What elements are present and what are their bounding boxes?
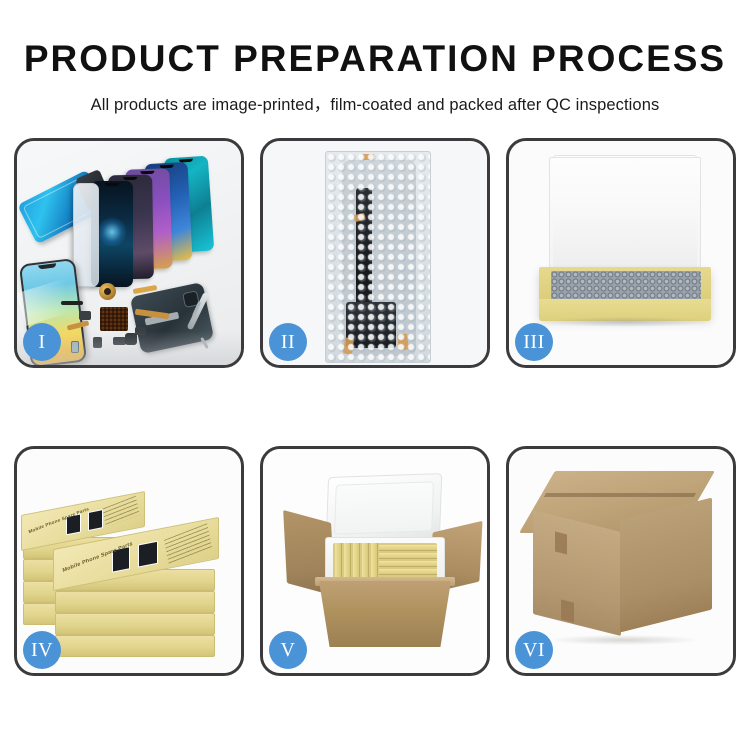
bubble-padding-layer [551,271,701,301]
wallpaper-glow [97,217,127,247]
carton-left-face [533,510,621,636]
step-badge-6: VI [515,631,553,669]
carton-top-seam [544,493,696,497]
notch-icon [140,171,154,174]
foam-lid [326,473,443,543]
bubble-wrap-pouch [325,151,431,363]
tempered-glass-protector [73,183,99,287]
part-screw-mesh-tray [100,307,128,331]
box-spec-lines [164,523,212,564]
retail-box-stacked [55,635,215,657]
step-badge-2: II [269,323,307,361]
process-step-panel-3[interactable]: III [506,138,736,368]
yellow-boxes-inside [333,543,437,579]
process-step-panel-5[interactable]: V [260,446,490,676]
step-badge-5: V [269,631,307,669]
process-panel-grid: I II [14,138,736,676]
inner-box [371,543,378,579]
part-strip [61,301,83,305]
part-chip-1 [79,311,91,320]
inner-box [379,561,437,567]
step-badge-4: IV [23,631,61,669]
page-header: PRODUCT PREPARATION PROCESS All products… [0,0,750,115]
carton-right-face [620,498,712,633]
inner-box [344,543,351,579]
process-step-panel-2[interactable]: II [260,138,490,368]
carton-body [319,581,451,647]
part-speaker-coil [99,283,116,300]
process-step-panel-4[interactable]: Mobile Phone Spare Parts Mobile Phone Sp… [14,446,244,676]
inner-box [335,543,342,579]
box-window-2 [138,541,158,568]
notch-icon [123,177,137,180]
carton-tape-lower [561,599,574,622]
page-subtitle: All products are image-printed，film-coat… [0,91,750,115]
bubble-texture [326,152,430,362]
retail-box-stacked [55,613,215,635]
surface-shadow [549,635,699,645]
inner-box [379,553,437,559]
notch-icon [105,183,119,186]
inner-box [362,543,369,579]
process-step-panel-1[interactable]: I [14,138,244,368]
notch-icon [38,263,56,269]
box-window-2 [88,509,103,531]
surface-shadow [545,317,707,327]
box-spec-lines [102,496,139,528]
step-badge-1: I [23,323,61,361]
inner-box [353,543,360,579]
retail-box-stacked [55,591,215,613]
carton-tape-upper [555,532,567,555]
foam-lid-inner [334,481,434,534]
page-title: PRODUCT PREPARATION PROCESS [0,40,750,79]
step-badge-3: III [515,323,553,361]
inner-box [379,569,437,575]
inner-box [379,545,437,551]
white-foam-sheet [553,201,697,273]
process-step-panel-6[interactable]: VI [506,446,736,676]
